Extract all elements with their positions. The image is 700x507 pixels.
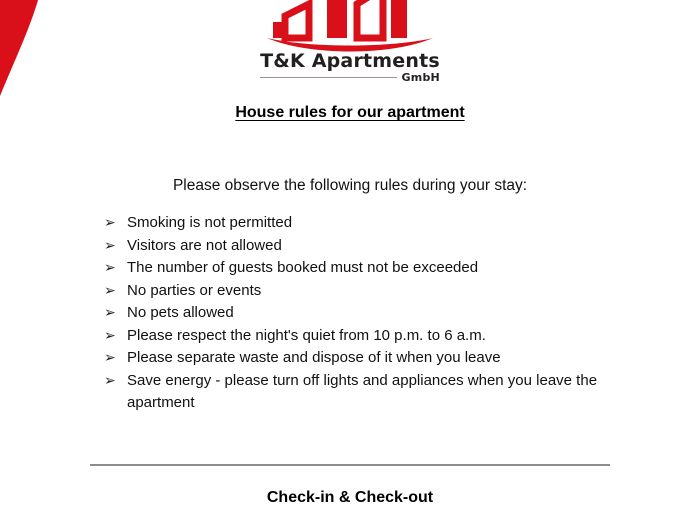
next-section-title: Check-in & Check-out xyxy=(0,489,700,507)
list-item-label: Please respect the night's quiet from 10… xyxy=(127,325,660,348)
list-item: ➢ No parties or events xyxy=(104,280,660,303)
list-item-label: No parties or events xyxy=(127,280,660,303)
arrow-bullet-icon: ➢ xyxy=(104,370,127,393)
section-divider xyxy=(90,464,610,466)
list-item-label: Visitors are not allowed xyxy=(127,235,660,258)
list-item-label: Save energy - please turn off lights and… xyxy=(127,370,660,415)
list-item-label: Smoking is not permitted xyxy=(127,212,660,235)
logo-rule xyxy=(260,77,396,78)
list-item-label: Please separate waste and dispose of it … xyxy=(127,347,660,370)
list-item: ➢ Visitors are not allowed xyxy=(104,235,660,258)
list-item-label: The number of guests booked must not be … xyxy=(127,257,660,280)
list-item: ➢ Please separate waste and dispose of i… xyxy=(104,347,660,370)
arrow-bullet-icon: ➢ xyxy=(104,280,127,303)
arrow-bullet-icon: ➢ xyxy=(104,302,127,325)
logo-company-suffix: GmbH xyxy=(402,72,440,83)
arrow-bullet-icon: ➢ xyxy=(104,325,127,348)
company-logo: T&K Apartments GmbH xyxy=(0,0,700,90)
list-item-label: No pets allowed xyxy=(127,302,660,325)
arrow-bullet-icon: ➢ xyxy=(104,212,127,235)
list-item: ➢ Please respect the night's quiet from … xyxy=(104,325,660,348)
logo-company-name: T&K Apartments xyxy=(260,52,440,71)
list-item: ➢ Save energy - please turn off lights a… xyxy=(104,370,660,415)
list-item: ➢ Smoking is not permitted xyxy=(104,212,660,235)
list-item: ➢ The number of guests booked must not b… xyxy=(104,257,660,280)
arrow-bullet-icon: ➢ xyxy=(104,235,127,258)
buildings-icon xyxy=(265,0,435,54)
page-title: House rules for our apartment xyxy=(0,104,700,122)
arrow-bullet-icon: ➢ xyxy=(104,257,127,280)
list-item: ➢ No pets allowed xyxy=(104,302,660,325)
arrow-bullet-icon: ➢ xyxy=(104,347,127,370)
rules-list: ➢ Smoking is not permitted ➢ Visitors ar… xyxy=(104,212,660,415)
intro-text: Please observe the following rules durin… xyxy=(0,177,700,195)
